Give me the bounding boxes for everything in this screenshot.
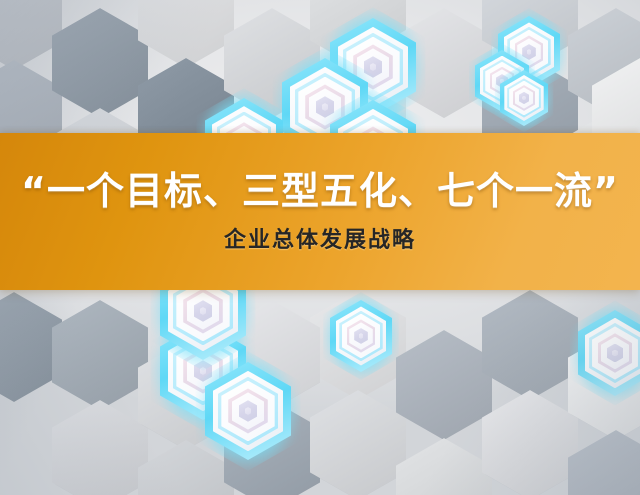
- banner-title: “一个目标、三型五化、七个一流”: [21, 172, 619, 210]
- banner-subtitle: 企业总体发展战略: [224, 230, 416, 252]
- slide-canvas: “一个目标、三型五化、七个一流” 企业总体发展战略: [0, 0, 640, 495]
- title-banner: “一个目标、三型五化、七个一流” 企业总体发展战略: [0, 133, 640, 290]
